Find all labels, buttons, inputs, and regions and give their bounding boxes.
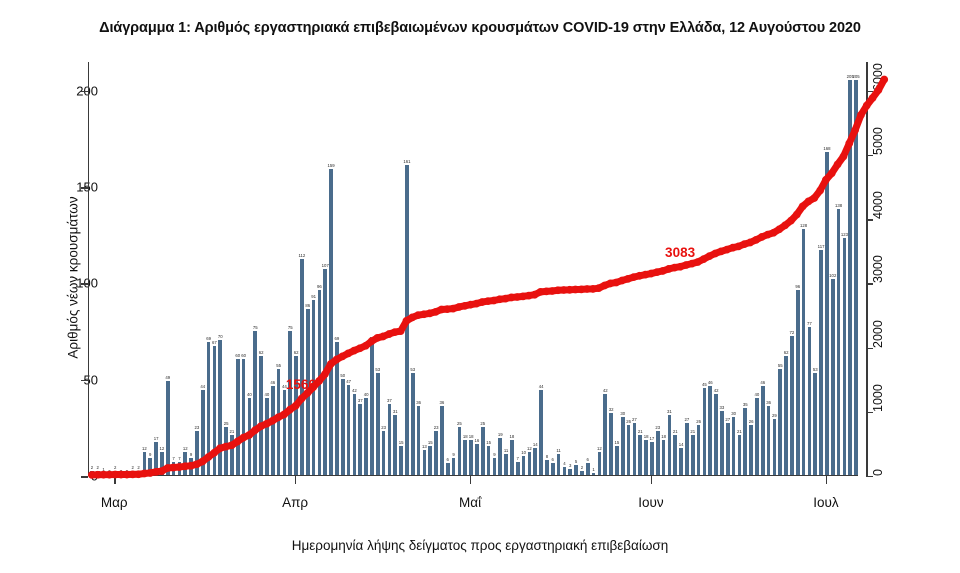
x-tick-label: Ιουν xyxy=(638,495,663,510)
cumulative-point xyxy=(787,217,795,225)
cumulative-point xyxy=(321,370,329,378)
y-tick-mark-left xyxy=(81,187,88,189)
y-tick-mark-right xyxy=(866,91,873,92)
cumulative-point xyxy=(810,194,818,202)
y-tick-mark-left xyxy=(81,476,88,478)
plot-area: 2210200221291712497712923446967702521606… xyxy=(88,62,858,476)
cumulative-point xyxy=(298,395,306,403)
y-tick-mark-right xyxy=(866,476,873,477)
cumulative-point xyxy=(315,377,323,385)
cumulative-point xyxy=(845,139,853,147)
x-tick-label: Ιουλ xyxy=(813,495,838,510)
chart-title: Διάγραμμα 1: Αριθμός εργαστηριακά επιβεβ… xyxy=(0,20,960,36)
y-tick-label-right: 1000 xyxy=(871,384,885,412)
cumulative-point xyxy=(793,211,801,219)
y-tick-mark-right xyxy=(866,412,873,413)
x-tick-mark xyxy=(651,476,652,484)
cumulative-point xyxy=(834,160,842,168)
cumulative-point xyxy=(863,102,871,110)
cumulative-point xyxy=(828,169,836,177)
y-tick-mark-right xyxy=(866,155,873,156)
cumulative-point xyxy=(851,126,859,134)
x-tick-mark xyxy=(826,476,827,484)
y-tick-mark-left xyxy=(81,380,88,382)
cumulative-point xyxy=(869,94,877,102)
y-tick-label-right: 3000 xyxy=(871,256,885,284)
y-tick-label-right: 0 xyxy=(871,469,885,476)
y-tick-mark-right xyxy=(866,219,873,220)
x-tick-label: Μαΐ xyxy=(459,495,481,510)
x-tick-mark xyxy=(295,476,296,484)
y-tick-mark-right xyxy=(866,348,873,349)
cumulative-point xyxy=(874,86,882,94)
cumulative-line-layer xyxy=(89,62,858,475)
cumulative-line xyxy=(92,79,884,474)
x-tick-label: Μαρ xyxy=(101,495,128,510)
cumulative-point xyxy=(880,76,888,84)
cumulative-annotation: 3083 xyxy=(665,245,695,260)
x-axis-label: Ημερομηνία λήψης δείγματος προς εργαστηρ… xyxy=(0,538,960,553)
y-tick-mark-right xyxy=(866,283,873,284)
cumulative-point xyxy=(397,327,405,335)
y-tick-mark-left xyxy=(81,91,88,93)
y-tick-label-right: 2000 xyxy=(871,320,885,348)
chart-figure: Διάγραμμα 1: Αριθμός εργαστηριακά επιβεβ… xyxy=(0,0,960,573)
y-tick-label-right: 4000 xyxy=(871,191,885,219)
cumulative-point xyxy=(816,187,824,195)
cumulative-markers xyxy=(88,76,888,479)
cumulative-annotation: 1566 xyxy=(286,377,316,392)
cumulative-point xyxy=(857,111,865,119)
y-tick-mark-left xyxy=(81,283,88,285)
cumulative-point xyxy=(292,402,300,410)
x-tick-mark xyxy=(470,476,471,484)
cumulative-point xyxy=(840,153,848,161)
x-tick-label: Απρ xyxy=(282,495,308,510)
y-tick-label-right: 5000 xyxy=(871,127,885,155)
cumulative-point xyxy=(822,176,830,184)
right-axis-line xyxy=(866,62,868,476)
